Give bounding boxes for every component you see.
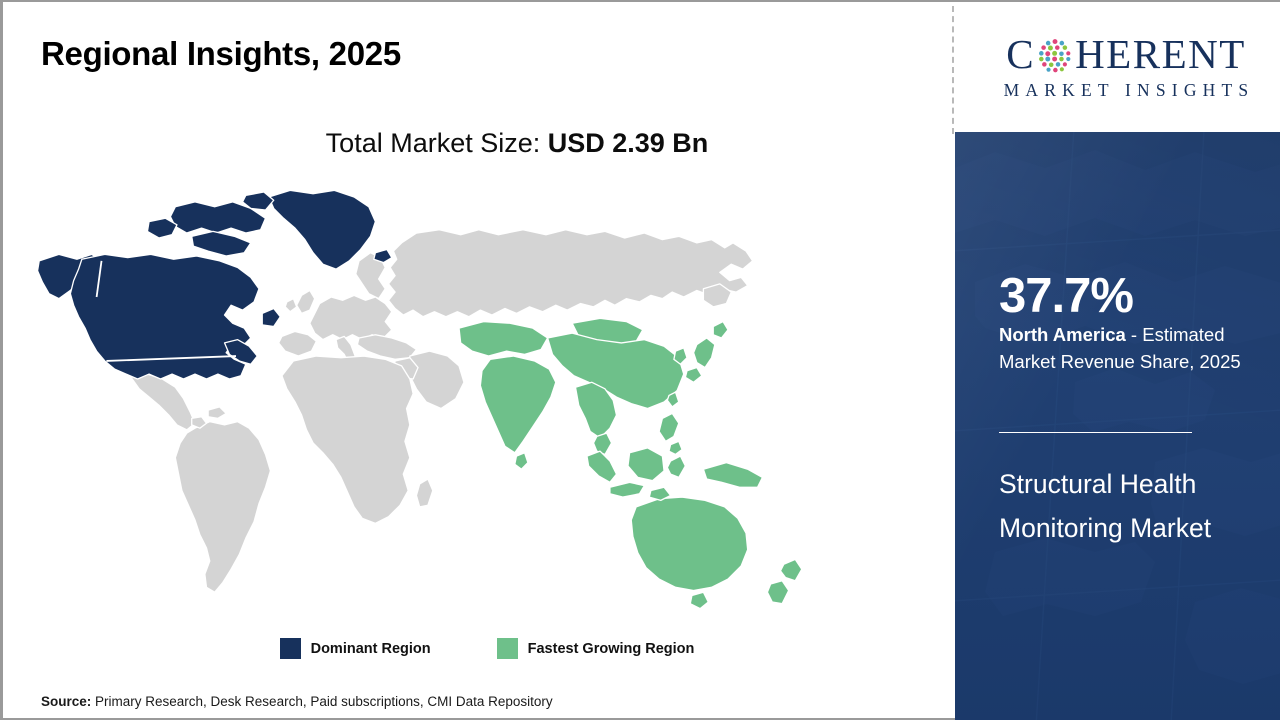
map-region-africa xyxy=(282,356,433,523)
legend-label-fastest-growing: Fastest Growing Region xyxy=(528,641,695,657)
stat-percentage: 37.7% xyxy=(999,272,1133,321)
stat-panel: 37.7% North America - Estimated Market R… xyxy=(955,132,1280,720)
world-map xyxy=(31,182,851,617)
market-size-label: Total Market Size: xyxy=(326,128,548,158)
world-map-svg xyxy=(31,182,851,617)
total-market-size: Total Market Size: USD 2.39 Bn xyxy=(3,128,951,159)
left-content-pane: Regional Insights, 2025 Total Market Siz… xyxy=(3,2,951,718)
source-note: Source: Primary Research, Desk Research,… xyxy=(41,694,553,709)
source-text: Primary Research, Desk Research, Paid su… xyxy=(91,694,552,709)
market-title: Structural Health Monitoring Market xyxy=(999,462,1229,551)
brand-tagline: MARKET INSIGHTS xyxy=(998,80,1255,101)
globe-dots-icon xyxy=(1036,37,1074,75)
brand-name-part1: C xyxy=(1006,34,1035,75)
infographic-canvas: Regional Insights, 2025 Total Market Siz… xyxy=(0,0,1280,720)
vertical-dashed-divider xyxy=(952,6,954,134)
legend-item-fastest-growing: Fastest Growing Region xyxy=(497,638,695,659)
market-size-value: USD 2.39 Bn xyxy=(548,128,709,158)
right-rail: C xyxy=(955,2,1280,720)
stat-region-name: North America xyxy=(999,324,1126,345)
map-region-south-america xyxy=(175,422,270,593)
brand-wordmark: C xyxy=(1006,34,1246,75)
stat-description: North America - Estimated Market Revenue… xyxy=(999,322,1249,376)
source-label: Source: xyxy=(41,694,91,709)
map-region-north-america-dominant xyxy=(38,190,392,379)
stat-divider-rule xyxy=(999,432,1192,433)
legend-swatch-dominant-icon xyxy=(280,638,301,659)
brand-logo: C xyxy=(955,2,1280,132)
panel-map-watermark xyxy=(955,132,1280,720)
map-region-asia-pacific-fastest xyxy=(459,318,802,608)
legend-swatch-fastest-growing-icon xyxy=(497,638,518,659)
map-legend: Dominant Region Fastest Growing Region xyxy=(3,638,951,659)
legend-item-dominant: Dominant Region xyxy=(280,638,431,659)
legend-label-dominant: Dominant Region xyxy=(311,641,431,657)
page-title: Regional Insights, 2025 xyxy=(41,35,401,73)
brand-name-part2: HERENT xyxy=(1075,34,1246,75)
